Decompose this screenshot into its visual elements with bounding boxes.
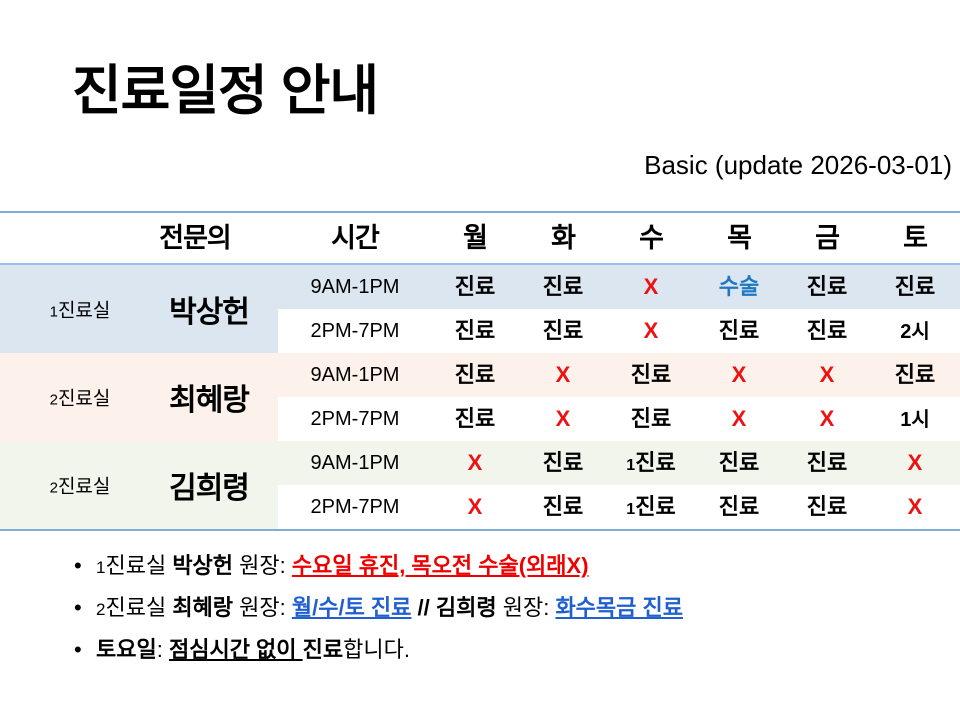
- day-cell: X: [520, 397, 606, 441]
- note-2-doctor-2: 김희령: [436, 595, 497, 620]
- day-cell: 진료: [872, 265, 958, 309]
- doctor-group: 2진료실최혜랑9AM-1PM진료X진료XX진료2PM-7PM진료X진료XX1시: [0, 353, 960, 441]
- column-header-mon: 월: [432, 213, 518, 263]
- bullet-icon: •: [74, 588, 82, 628]
- day-cell: 진료: [432, 353, 518, 397]
- page-subtitle: Basic (update 2026-03-01): [644, 150, 952, 181]
- note-item-1: • 1진료실 박상헌 원장: 수요일 휴진, 목오전 수술(외래X): [0, 546, 960, 588]
- day-cell: 진료: [520, 265, 606, 309]
- time-cell: 2PM-7PM: [288, 309, 422, 353]
- hour-text: 2시: [900, 321, 930, 343]
- note-item-3: • 토요일: 점심시간 없이 진료합니다.: [0, 630, 960, 670]
- day-cell: X: [520, 353, 606, 397]
- table-row: 2PM-7PM진료X진료XX1시: [0, 397, 960, 441]
- day-cell: 진료: [696, 441, 782, 485]
- bullet-icon: •: [74, 546, 82, 586]
- day-cell: 수술: [696, 265, 782, 309]
- day-cell: X: [608, 265, 694, 309]
- day-cell: 2시: [872, 309, 958, 353]
- day-cell: X: [432, 441, 518, 485]
- note-3-highlight: 점심시간 없이: [169, 637, 303, 662]
- page-title: 진료일정 안내: [72, 62, 378, 121]
- day-cell: 1시: [872, 397, 958, 441]
- note-2-doctor: 최혜랑: [172, 595, 233, 620]
- note-3-tail-bold: 진료: [303, 637, 343, 662]
- note-item-2: • 2진료실 최혜랑 원장: 월/수/토 진료 // 김희령 원장: 화수목금 …: [0, 588, 960, 630]
- column-header-wed: 수: [608, 213, 694, 263]
- column-header-time: 시간: [288, 213, 422, 263]
- table-header-row: 전문의 시간 월 화 수 목 금 토: [0, 213, 960, 263]
- day-cell: 진료: [432, 265, 518, 309]
- day-cell: X: [608, 309, 694, 353]
- day-cell: X: [784, 397, 870, 441]
- time-cell: 9AM-1PM: [288, 441, 422, 485]
- table-row: 2PM-7PM진료진료X진료진료2시: [0, 309, 960, 353]
- note-2-suffix-2: 원장:: [497, 595, 556, 620]
- day-cell: X: [872, 485, 958, 529]
- schedule-table: 전문의 시간 월 화 수 목 금 토 1진료실박상헌9AM-1PM진료진료X수술…: [0, 211, 960, 531]
- day-cell: 진료: [520, 309, 606, 353]
- day-cell: X: [872, 441, 958, 485]
- time-cell: 2PM-7PM: [288, 397, 422, 441]
- table-row: 2PM-7PMX진료1진료진료진료X: [0, 485, 960, 529]
- time-cell: 2PM-7PM: [288, 485, 422, 529]
- table-row: 9AM-1PM진료X진료XX진료: [0, 353, 960, 397]
- notes-list: • 1진료실 박상헌 원장: 수요일 휴진, 목오전 수술(외래X) • 2진료…: [0, 546, 960, 670]
- time-cell: 9AM-1PM: [288, 265, 422, 309]
- day-cell: 진료: [520, 485, 606, 529]
- day-cell: 진료: [696, 309, 782, 353]
- note-2-suffix: 원장:: [233, 595, 292, 620]
- note-1-doctor: 박상헌: [172, 553, 233, 578]
- row-cells: 9AM-1PMX진료1진료진료진료X: [278, 441, 960, 485]
- day-cell: 1진료: [608, 485, 694, 529]
- day-cell: X: [696, 397, 782, 441]
- note-1-highlight: 수요일 휴진, 목오전 수술(외래X): [292, 553, 589, 578]
- note-2-room: 진료실: [105, 595, 172, 620]
- schedule-page: 진료일정 안내 Basic (update 2026-03-01) 전문의 시간…: [0, 0, 960, 720]
- day-cell: 진료: [608, 397, 694, 441]
- day-cell: 진료: [784, 309, 870, 353]
- row-cells: 2PM-7PMX진료1진료진료진료X: [278, 485, 960, 529]
- bullet-icon: •: [74, 630, 82, 670]
- table-bottom-rule: [0, 529, 960, 531]
- column-header-thu: 목: [696, 213, 782, 263]
- column-header-specialist: 전문의: [115, 213, 275, 263]
- day-cell: X: [432, 485, 518, 529]
- table-row: 9AM-1PMX진료1진료진료진료X: [0, 441, 960, 485]
- column-header-fri: 금: [784, 213, 870, 263]
- note-3-colon: :: [157, 637, 169, 662]
- day-cell: 진료: [696, 485, 782, 529]
- note-3-lead: 토요일: [96, 637, 157, 662]
- column-header-tue: 화: [520, 213, 606, 263]
- doctor-group: 1진료실박상헌9AM-1PM진료진료X수술진료진료2PM-7PM진료진료X진료진…: [0, 265, 960, 353]
- room-prefix: 1: [626, 457, 635, 474]
- column-header-sat: 토: [872, 213, 958, 263]
- day-cell: 진료: [784, 265, 870, 309]
- hour-text: 1시: [900, 409, 930, 431]
- table-row: 9AM-1PM진료진료X수술진료진료: [0, 265, 960, 309]
- day-cell: 진료: [872, 353, 958, 397]
- doctor-group: 2진료실김희령9AM-1PMX진료1진료진료진료X2PM-7PMX진료1진료진료…: [0, 441, 960, 529]
- day-cell: 진료: [432, 309, 518, 353]
- day-cell: 진료: [784, 485, 870, 529]
- note-1-suffix: 원장:: [233, 553, 292, 578]
- room-prefix: 1: [626, 501, 635, 518]
- day-cell: 진료: [608, 353, 694, 397]
- day-cell: X: [784, 353, 870, 397]
- day-cell: X: [696, 353, 782, 397]
- note-3-tail: 합니다.: [343, 637, 410, 662]
- row-cells: 2PM-7PM진료X진료XX1시: [278, 397, 960, 441]
- row-cells: 2PM-7PM진료진료X진료진료2시: [278, 309, 960, 353]
- day-cell: 진료: [520, 441, 606, 485]
- note-1-room: 진료실: [105, 553, 172, 578]
- cell-text: 진료: [635, 450, 675, 475]
- row-cells: 9AM-1PM진료진료X수술진료진료: [278, 265, 960, 309]
- note-2-highlight-2: 화수목금 진료: [555, 595, 683, 620]
- day-cell: 진료: [784, 441, 870, 485]
- cell-text: 진료: [635, 494, 675, 519]
- note-2-highlight: 월/수/토 진료: [292, 595, 412, 620]
- day-cell: 1진료: [608, 441, 694, 485]
- table-body: 1진료실박상헌9AM-1PM진료진료X수술진료진료2PM-7PM진료진료X진료진…: [0, 265, 960, 529]
- time-cell: 9AM-1PM: [288, 353, 422, 397]
- note-2-separator: //: [411, 595, 435, 620]
- row-cells: 9AM-1PM진료X진료XX진료: [278, 353, 960, 397]
- day-cell: 진료: [432, 397, 518, 441]
